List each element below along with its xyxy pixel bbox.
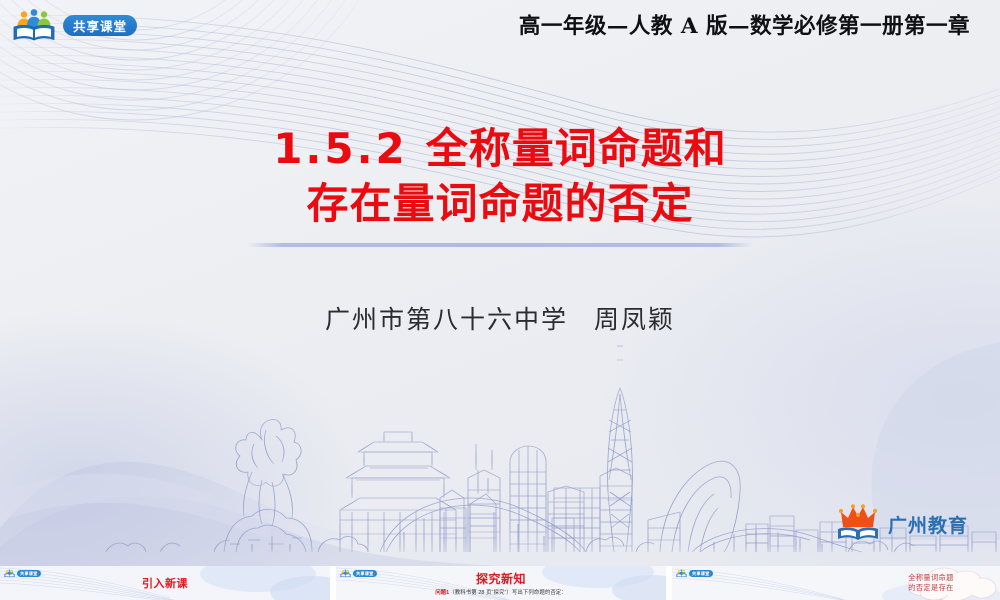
title-line-2: 存在量词命题的否定 [0, 177, 1000, 232]
guangzhou-education-logo: 广州教育 [837, 503, 968, 545]
title-line-1: 1.5.2全称量词命题和 [0, 122, 1000, 177]
slide-thumbnail-2[interactable]: 共享课堂 探究新知 问题1（教科书第 28 页“探究”）写出下列命题的否定： [336, 566, 666, 600]
thumbnail-subtitle-label-2: 问题1 [435, 590, 449, 596]
brand-logo: 共享课堂 [12, 8, 137, 42]
presenter-line: 广州市第八十六中学周凤颖 [0, 300, 1000, 336]
slide-header: 共享课堂 高一年级—人教 A 版—数学必修第一册第一章 [0, 0, 1000, 52]
thumbnail-brand-pill-3: 共享课堂 [689, 570, 713, 577]
guangzhou-education-label: 广州教育 [888, 511, 968, 538]
thumbnail-cloud-callout: 全称量词命题 的否定是存在 [870, 568, 992, 600]
title-block: 1.5.2全称量词命题和 存在量词命题的否定 [0, 122, 1000, 247]
course-header-title: 高一年级—人教 A 版—数学必修第一册第一章 [519, 9, 970, 40]
title-text-1: 全称量词命题和 [426, 124, 727, 173]
thumbnail-subtitle-2: 问题1（教科书第 28 页“探究”）写出下列命题的否定： [336, 588, 666, 596]
cloud-line-2: 的否定是存在 [870, 583, 992, 593]
school-name: 广州市第八十六中学 [325, 305, 568, 334]
cloud-line-1: 全称量词命题 [870, 573, 992, 583]
crown-over-open-book-icon [837, 503, 879, 545]
thumbnail-subtitle-body-2: （教科书第 28 页“探究”）写出下列命题的否定： [449, 590, 567, 596]
lesson-number: 1.5.2 [273, 124, 408, 173]
thumbnail-cloud-text: 全称量词命题 的否定是存在 [870, 573, 992, 593]
slide-thumbnail-1[interactable]: 共享课堂 引入新课 [0, 566, 330, 600]
thumbnail-brand-3: 共享课堂 [676, 569, 713, 578]
brand-name-pill: 共享课堂 [63, 15, 137, 36]
slide-canvas[interactable]: 共享课堂 高一年级—人教 A 版—数学必修第一册第一章 1.5.2全称量词命题和… [0, 0, 1000, 566]
slide-thumbnail-strip[interactable]: 共享课堂 引入新课 [0, 566, 1000, 600]
presenter-name: 周凤颖 [594, 305, 675, 334]
slide-background-artwork [0, 0, 1000, 566]
slide-thumbnail-3[interactable]: 共享课堂 全称量词命题 的否定是存在 [672, 566, 1000, 600]
title-underline-rule [247, 243, 753, 247]
open-book-with-students-icon [676, 569, 687, 578]
presentation-window: 共享课堂 高一年级—人教 A 版—数学必修第一册第一章 1.5.2全称量词命题和… [0, 0, 1000, 600]
thumbnail-title-1: 引入新课 [0, 575, 330, 591]
thumbnail-title-2: 探究新知 [336, 570, 666, 587]
open-book-with-students-icon [12, 8, 56, 42]
